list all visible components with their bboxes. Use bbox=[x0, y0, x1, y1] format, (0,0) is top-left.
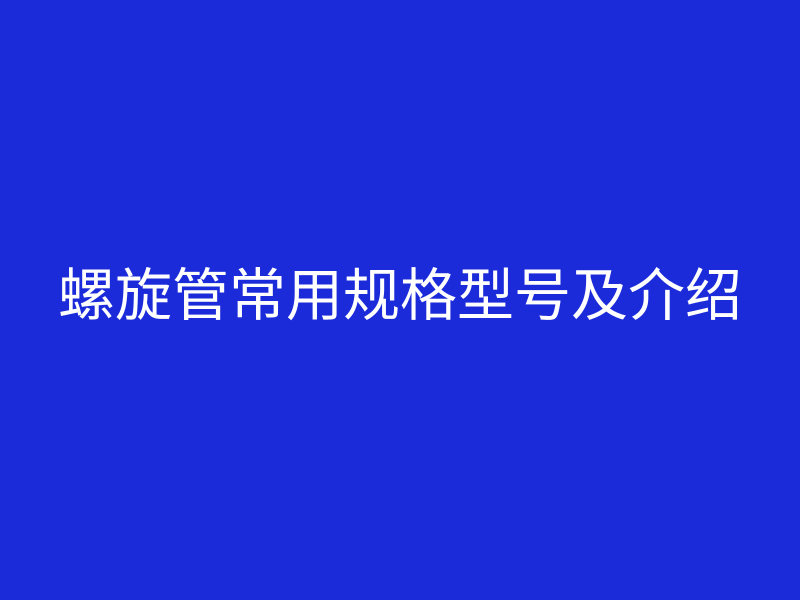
title-block: 螺旋管常用规格型号及介绍 bbox=[0, 0, 800, 600]
page-title: 螺旋管常用规格型号及介绍 bbox=[0, 268, 800, 325]
slide-canvas: 螺旋管常用规格型号及介绍 bbox=[0, 0, 800, 600]
